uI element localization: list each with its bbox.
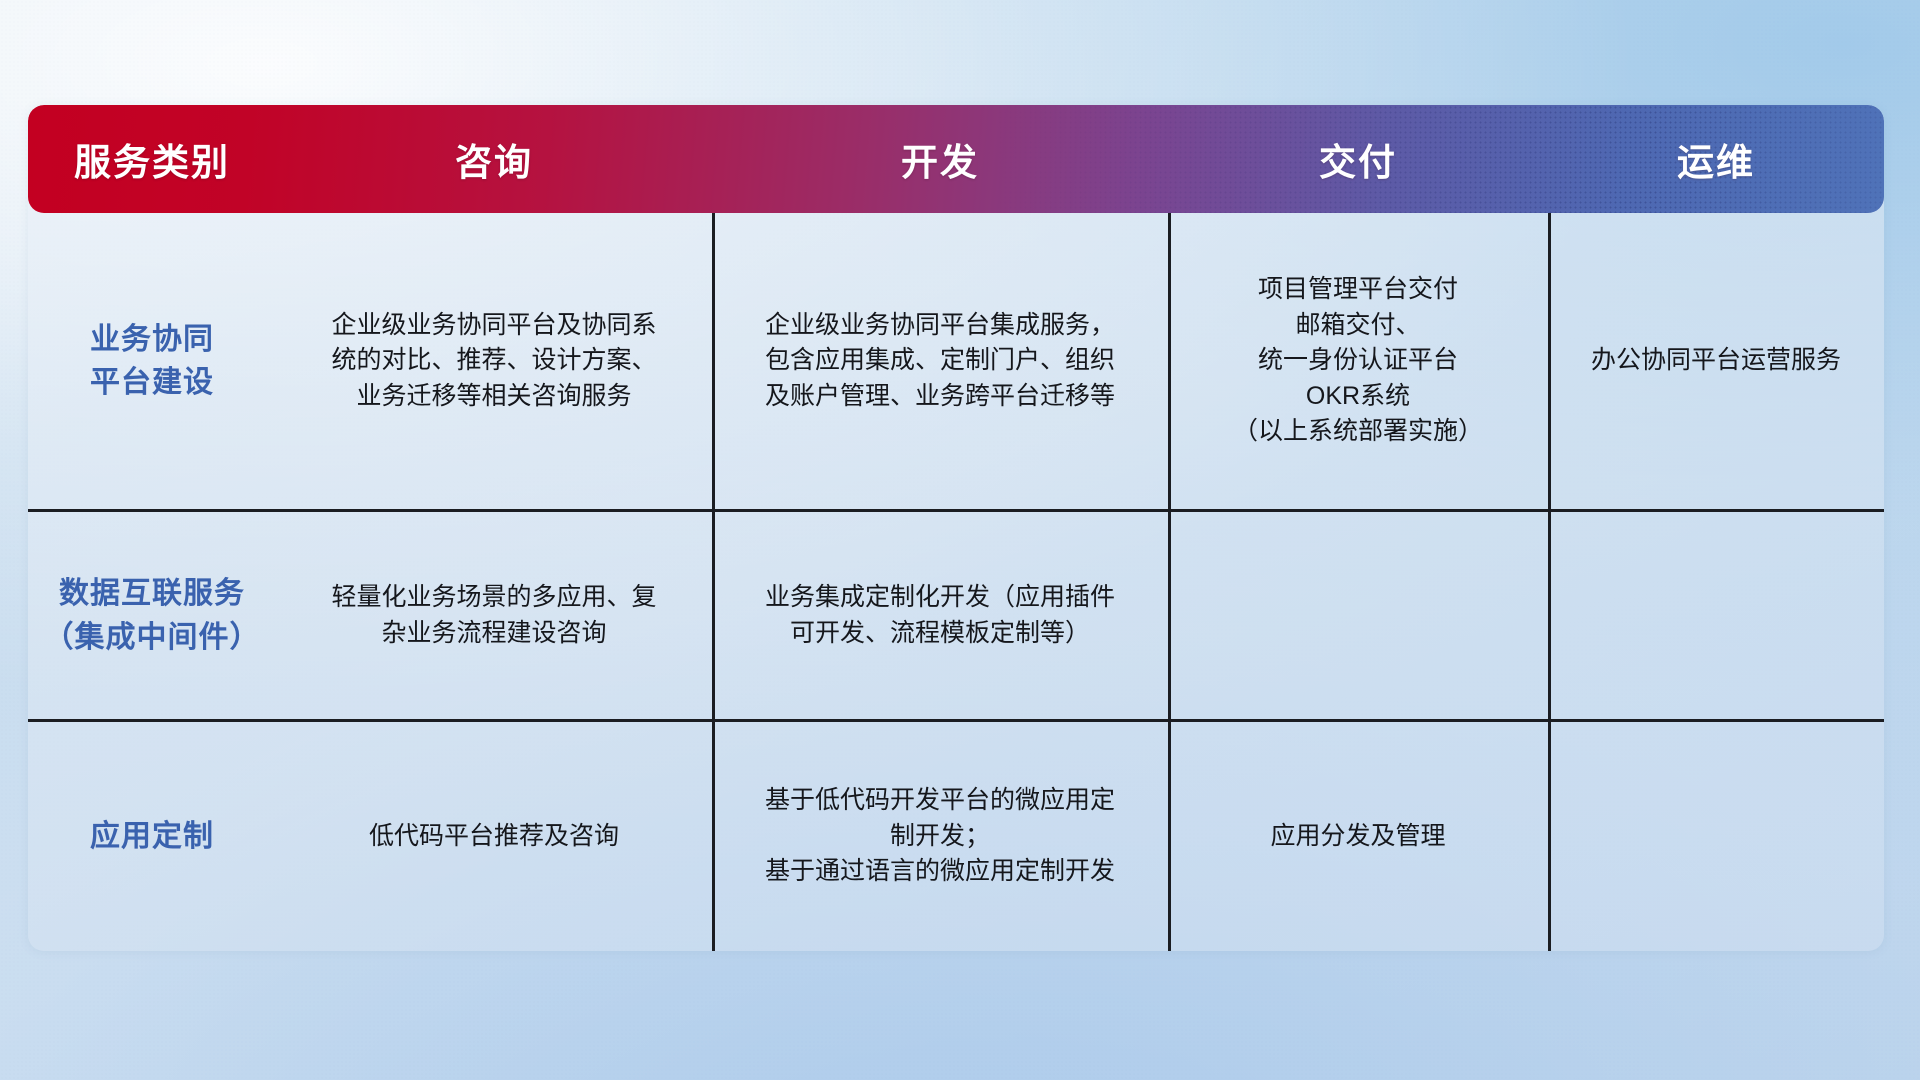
cell-delivery-row3: 应用分发及管理 bbox=[1168, 722, 1548, 951]
table-row: 业务协同 平台建设 企业级业务协同平台及协同系 统的对比、推荐、设计方案、 业务… bbox=[28, 213, 1884, 509]
row-divider-2 bbox=[28, 719, 1884, 722]
cell-development-row3: 基于低代码开发平台的微应用定 制开发； 基于通过语言的微应用定制开发 bbox=[712, 722, 1168, 951]
cell-delivery-row2 bbox=[1168, 512, 1548, 719]
header-cell-consulting: 咨询 bbox=[276, 132, 712, 186]
table-row: 数据互联服务 （集成中间件） 轻量化业务场景的多应用、复 杂业务流程建设咨询 业… bbox=[28, 512, 1884, 719]
row-label-business-collaboration-platform: 业务协同 平台建设 bbox=[28, 213, 276, 509]
slide-canvas: 服务类别 咨询 开发 交付 运维 业务协同 平台建设 企业级业务协同平台及协同系… bbox=[0, 0, 1920, 1080]
cell-operations-row2 bbox=[1548, 512, 1884, 719]
cell-consulting-row1: 企业级业务协同平台及协同系 统的对比、推荐、设计方案、 业务迁移等相关咨询服务 bbox=[276, 213, 712, 509]
table-body: 业务协同 平台建设 企业级业务协同平台及协同系 统的对比、推荐、设计方案、 业务… bbox=[28, 213, 1884, 951]
row-divider-1 bbox=[28, 509, 1884, 512]
service-matrix-table: 服务类别 咨询 开发 交付 运维 业务协同 平台建设 企业级业务协同平台及协同系… bbox=[28, 105, 1884, 951]
column-divider-consulting-development bbox=[712, 213, 715, 951]
column-divider-delivery-operations bbox=[1548, 213, 1551, 951]
header-cell-development: 开发 bbox=[712, 132, 1168, 186]
column-divider-development-delivery bbox=[1168, 213, 1171, 951]
header-cell-service-category: 服务类别 bbox=[28, 132, 276, 186]
cell-operations-row1: 办公协同平台运营服务 bbox=[1548, 213, 1884, 509]
cell-consulting-row3: 低代码平台推荐及咨询 bbox=[276, 722, 712, 951]
cell-delivery-row1: 项目管理平台交付 邮箱交付、 统一身份认证平台 OKR系统 （以上系统部署实施） bbox=[1168, 213, 1548, 509]
cell-operations-row3 bbox=[1548, 722, 1884, 951]
header-cell-delivery: 交付 bbox=[1168, 132, 1548, 186]
cell-development-row1: 企业级业务协同平台集成服务， 包含应用集成、定制门户、组织 及账户管理、业务跨平… bbox=[712, 213, 1168, 509]
table-header-row: 服务类别 咨询 开发 交付 运维 bbox=[28, 105, 1884, 213]
row-label-application-customization: 应用定制 bbox=[28, 722, 276, 951]
cell-consulting-row2: 轻量化业务场景的多应用、复 杂业务流程建设咨询 bbox=[276, 512, 712, 719]
table-row: 应用定制 低代码平台推荐及咨询 基于低代码开发平台的微应用定 制开发； 基于通过… bbox=[28, 722, 1884, 951]
header-cell-operations: 运维 bbox=[1548, 132, 1884, 186]
row-label-data-interconnection-service: 数据互联服务 （集成中间件） bbox=[28, 512, 276, 719]
cell-development-row2: 业务集成定制化开发（应用插件 可开发、流程模板定制等） bbox=[712, 512, 1168, 719]
